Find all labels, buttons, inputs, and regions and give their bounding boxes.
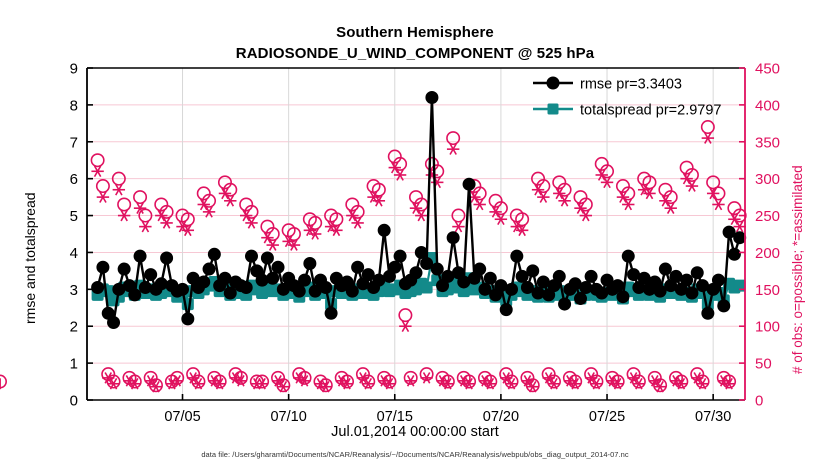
series-point [203,263,215,275]
series-point [728,248,740,260]
x-tick-label: 07/20 [483,409,519,425]
series-point [532,287,544,299]
series-point [155,278,167,290]
series-point [325,307,337,319]
y-tick-label-left: 2 [70,319,78,336]
series-point [182,313,194,325]
obs-assimilated-marker [351,218,363,229]
series-point [479,283,491,295]
obs-possible-marker [702,121,714,133]
plot-canvas: 012345678905010015020025030035040045007/… [0,0,830,470]
series-point [346,285,358,297]
obs-assimilated-marker [659,195,671,206]
legend-label: rmse pr=3.3403 [580,77,682,93]
obs-assimilated-marker [473,199,485,210]
y-tick-label-left: 7 [70,134,78,151]
series-point [299,274,311,286]
obs-assimilated-marker [420,372,432,383]
series-point [712,274,724,286]
series-point [378,224,390,236]
series-point [118,263,130,275]
series-point [161,252,173,264]
obs-assimilated-marker [447,144,459,155]
obs-assimilated-marker [139,221,151,232]
obs-assimilated-marker [537,192,549,203]
series-point [463,178,475,190]
obs-assimilated-marker [410,203,422,214]
series-point [410,267,422,279]
obs-assimilated-marker [712,199,724,210]
obs-assimilated-marker [97,192,109,203]
obs-assimilated-marker [553,188,565,199]
series-point [421,258,433,270]
y-tick-label-left: 5 [70,208,78,225]
series-point [580,281,592,293]
obs-assimilated-marker [245,218,257,229]
obs-assimilated-marker [580,210,592,221]
x-axis-label: Jul.01,2014 00:00:00 start [0,424,830,440]
y-tick-label-left: 1 [70,356,78,373]
series-point [389,261,401,273]
obs-possible-marker [134,191,146,203]
y-tick-label-right: 100 [755,319,780,336]
obs-assimilated-marker [224,195,236,206]
obs-assimilated-marker [558,195,570,206]
y-tick-label-right: 250 [755,208,780,225]
series-point [723,226,735,238]
series-point [506,283,518,295]
obs-possible-marker [91,154,103,166]
y-tick-label-left: 6 [70,171,78,188]
series-point [320,281,332,293]
chart-figure: Southern Hemisphere RADIOSONDE_U_WIND_CO… [0,0,830,470]
obs-assimilated-marker [346,210,358,221]
series-point [129,289,141,301]
obs-assimilated-marker [532,184,544,195]
x-tick-label: 07/30 [695,409,731,425]
y-tick-label-right: 300 [755,171,780,188]
x-tick-label: 07/05 [164,409,200,425]
obs-assimilated-marker [680,173,692,184]
series-point [246,250,258,262]
series-point [352,261,364,273]
series-point [431,263,443,275]
obs-possible-marker [447,132,459,144]
y-tick-label-right: 350 [755,134,780,151]
y-tick-label-left: 4 [70,245,78,262]
series-point [527,265,539,277]
series-point [293,285,305,297]
y-tick-label-right: 50 [755,356,772,373]
obs-possible-marker [399,309,411,321]
series-point [474,263,486,275]
y-tick-label-right: 0 [755,393,763,410]
series-point [585,270,597,282]
series-point [447,232,459,244]
series-point [394,250,406,262]
obs-assimilated-marker [219,188,231,199]
obs-assimilated-marker [261,232,273,243]
series-point [139,281,151,293]
obs-assimilated-marker [622,199,634,210]
series-point [415,246,427,258]
series-point [224,287,236,299]
legend-label: totalspread pr=2.9797 [580,103,721,119]
series-point [256,274,268,286]
series-point [304,258,316,270]
series-point [421,282,432,293]
series-point [734,232,746,244]
obs-assimilated-marker [733,221,745,232]
y-tick-label-right: 450 [755,61,780,78]
obs-assimilated-marker [665,203,677,214]
series-point [516,270,528,282]
y-tick-label-left: 8 [70,97,78,114]
series-point [617,291,629,303]
obs-possible-marker [118,198,130,210]
series-point [177,283,189,295]
series-point [261,252,273,264]
series-point [691,267,703,279]
obs-assimilated-marker [155,210,167,221]
series-point [208,248,220,260]
x-tick-label: 07/25 [589,409,625,425]
obs-assimilated-marker [399,321,411,332]
series-point [500,304,512,316]
obs-assimilated-marker [415,210,427,221]
legend-marker-circle [547,77,560,90]
series-point [681,274,693,286]
series-point [272,261,284,273]
series-point [198,276,210,288]
x-tick-label: 07/10 [270,409,306,425]
series-point [521,281,533,293]
obs-assimilated-marker [91,166,103,177]
obs-assimilated-marker [452,221,464,232]
obs-assimilated-marker [198,199,210,210]
y-tick-label-right: 150 [755,282,780,299]
series-point [622,250,634,262]
obs-assimilated-marker [686,181,698,192]
obs-assimilated-marker [118,210,130,221]
chart-legend: rmse pr=3.3403totalspread pr=2.9797 [533,77,721,119]
obs-assimilated-marker [267,240,279,251]
legend-marker-square [548,104,559,115]
series-point [686,287,698,299]
series-point [426,92,438,104]
series-point [134,250,146,262]
series-point [108,317,120,329]
y-tick-label-right: 400 [755,97,780,114]
series-point [92,281,104,293]
series-point [484,272,496,284]
obs-assimilated-marker [113,184,125,195]
series-point [702,307,714,319]
obs-assimilated-marker [574,203,586,214]
series-point [659,263,671,275]
obs-possible-marker [97,180,109,192]
series-point [240,281,252,293]
obs-assimilated-marker [160,218,172,229]
x-tick-label: 07/15 [377,409,413,425]
series-point [553,270,565,282]
series-point [654,285,666,297]
series-point [145,269,157,281]
series-point [612,280,624,292]
y-tick-label-left: 3 [70,282,78,299]
series-point [559,298,571,310]
y-tick-label-right: 200 [755,245,780,262]
y-tick-label-left: 0 [70,393,78,410]
obs-possible-marker [0,375,6,387]
series-point [511,250,523,262]
series-point [97,261,109,273]
obs-assimilated-marker [240,210,252,221]
y-tick-label-left: 9 [70,61,78,78]
data-file-footer: data file: /Users/gharamti/Documents/NCA… [0,450,830,459]
obs-assimilated-marker [617,192,629,203]
series-point [267,272,279,284]
series-point [362,269,374,281]
series-point [718,300,730,312]
series-point [575,293,587,305]
